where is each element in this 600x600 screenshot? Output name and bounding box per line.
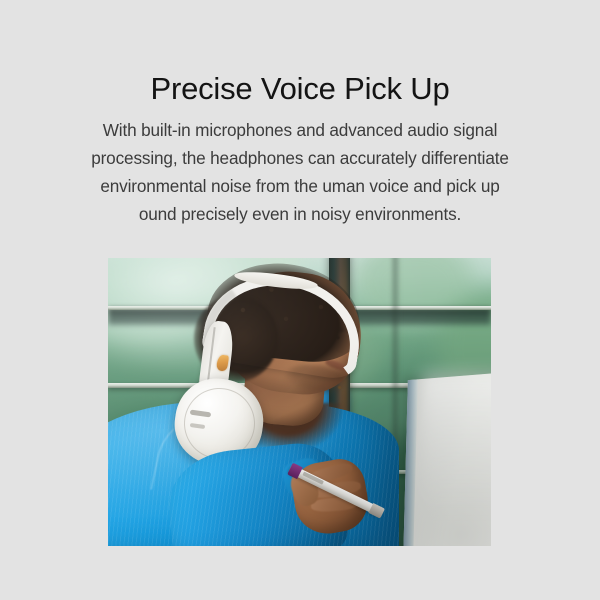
page-title: Precise Voice Pick Up xyxy=(0,71,600,108)
body-line-4: ound precisely even in noisy environment… xyxy=(45,201,555,229)
promo-page: Precise Voice Pick Up With built-in micr… xyxy=(0,0,600,600)
body-line-3: environmental noise from the uman voice … xyxy=(45,173,555,201)
body-description: With built-in microphones and advanced a… xyxy=(45,117,555,228)
person xyxy=(108,258,491,546)
product-lifestyle-photo xyxy=(108,258,491,546)
photo-scene xyxy=(108,258,491,546)
body-line-2: processing, the headphones can accuratel… xyxy=(45,145,555,173)
body-line-1: With built-in microphones and advanced a… xyxy=(45,117,555,145)
